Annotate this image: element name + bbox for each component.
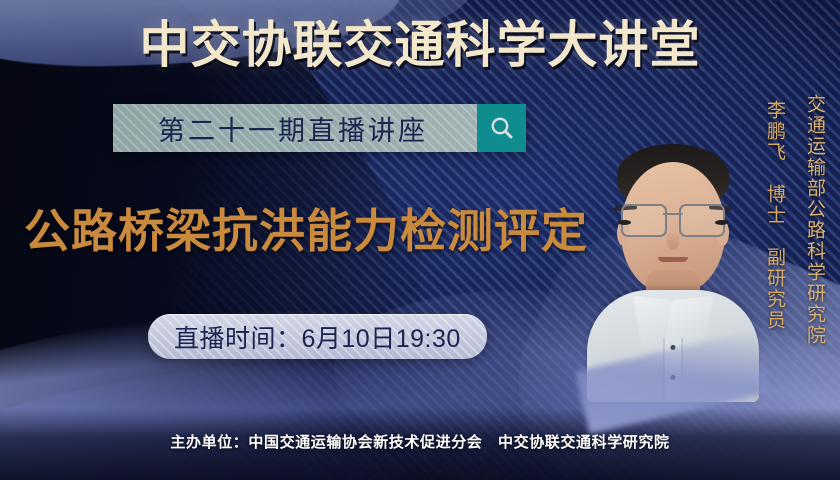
search-icon bbox=[489, 115, 515, 141]
portrait-nose bbox=[667, 232, 679, 250]
portrait-eye-left bbox=[618, 220, 631, 225]
speaker-portrait bbox=[594, 134, 752, 402]
broadcast-time-label: 直播时间：6月10日19:30 bbox=[174, 319, 461, 355]
portrait-mouth bbox=[658, 257, 688, 262]
session-label: 第二十一期直播讲座 bbox=[113, 104, 477, 152]
speaker-organization: 交通运输部公路科学研究院 bbox=[801, 94, 828, 346]
webinar-poster: 交通运输部公路科学研究院 李鹏飞 博士 副研究员 中交协联交通科学大讲堂 第二十… bbox=[0, 0, 840, 480]
search-button[interactable] bbox=[477, 104, 526, 152]
organizer-footer: 主办单位：中国交通运输协会新技术促进分会 中交协联交通科学研究院 bbox=[0, 431, 840, 452]
lecture-topic-title: 公路桥梁抗洪能力检测评定 bbox=[24, 206, 588, 257]
portrait-glasses bbox=[621, 204, 725, 234]
speaker-name-and-title: 李鹏飞 博士 副研究员 bbox=[761, 100, 788, 331]
page-title: 中交协联交通科学大讲堂 bbox=[0, 20, 840, 70]
broadcast-time-badge: 直播时间：6月10日19:30 bbox=[148, 314, 487, 359]
portrait-eye-right bbox=[715, 220, 728, 225]
session-banner: 第二十一期直播讲座 bbox=[113, 104, 526, 152]
